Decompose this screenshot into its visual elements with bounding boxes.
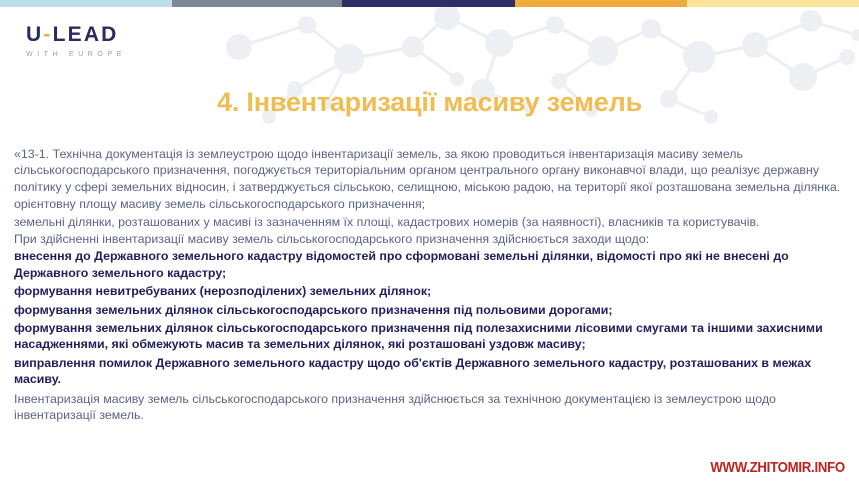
topbar-segment-light-blue [0,0,172,7]
page-title: 4. Інвентаризації масиву земель [0,87,859,118]
logo-wordmark: U-LEAD [26,24,156,45]
paragraph: «13-1. Технічна документація із землеуст… [14,146,842,195]
paragraph: Інвентаризація масиву земель сільськогос… [14,391,842,424]
logo-word-lead: LEAD [53,23,119,46]
watermark: WWW.ZHITOMIR.INFO [710,459,845,476]
paragraph-bold: виправлення помилок Державного земельног… [14,355,842,388]
paragraph-bold: формування невитребуваних (нерозподілени… [14,283,842,299]
slide: U-LEAD WITH EUROPE 4. Інвентаризації мас… [0,0,859,484]
paragraph-bold: формування земельних ділянок сільськогос… [14,320,842,353]
paragraph: земельні ділянки, розташованих у масиві … [14,214,842,230]
logo-subtitle: WITH EUROPE [26,51,156,58]
paragraph: орієнтовну площу масиву земель сільськог… [14,196,842,212]
topbar-segment-orange [515,0,687,7]
logo-dash: - [43,23,52,46]
topbar-segment-navy [342,0,515,7]
paragraph-bold: формування земельних ділянок сільськогос… [14,302,842,318]
top-color-bar [0,0,859,7]
paragraph: При здійсненні інвентаризації масиву зем… [14,231,842,247]
topbar-segment-light-yellow [687,0,859,7]
paragraph-bold: внесення до Державного земельного кадаст… [14,248,842,281]
ulead-logo: U-LEAD WITH EUROPE [26,24,156,58]
topbar-segment-gray [172,0,342,7]
body-text-block: «13-1. Технічна документація із землеуст… [14,146,842,425]
logo-letter-u: U [26,23,43,46]
